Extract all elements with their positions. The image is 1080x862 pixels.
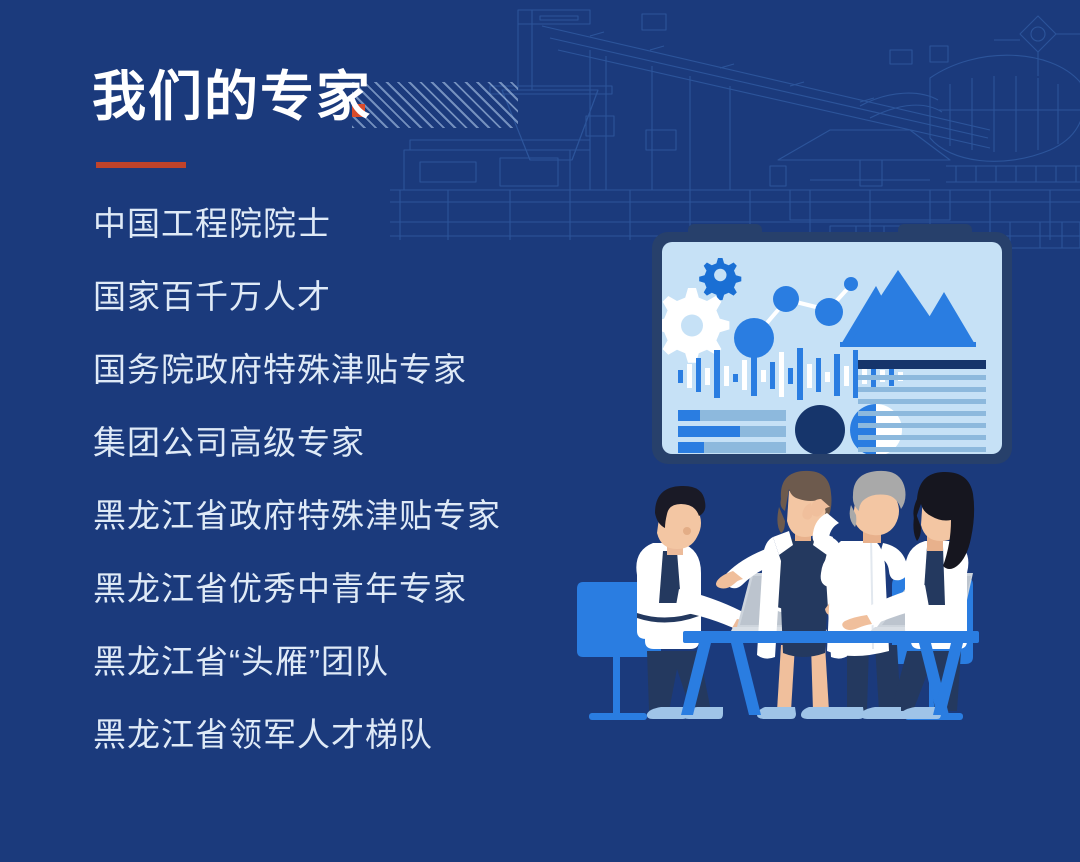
list-item: 中国工程院院士	[93, 207, 563, 240]
panel-screen	[662, 242, 1002, 454]
donut-circle-navy	[795, 405, 845, 454]
list-item: 黑龙江省领军人才梯队	[93, 718, 563, 751]
diagonal-hatch-decoration	[352, 82, 518, 128]
orange-underline-rule	[96, 162, 186, 168]
progress-bars	[678, 410, 786, 453]
gear-icon-blue	[699, 258, 741, 300]
waveform-bars	[678, 348, 903, 400]
standing-woman-center-left	[716, 471, 849, 719]
list-item: 国家百千万人才	[93, 280, 563, 313]
page-title: 我们的专家	[92, 70, 372, 124]
list-item: 集团公司高级专家	[93, 426, 563, 459]
list-item: 黑龙江省政府特殊津贴专家	[93, 499, 563, 532]
poster-canvas: 我们的专家 中国工程院院士 国家百千万人才 国务院政府特殊津贴专家 集团公司高级…	[0, 0, 1080, 862]
list-item: 黑龙江省优秀中青年专家	[93, 572, 563, 605]
list-item: 国务院政府特殊津贴专家	[93, 353, 563, 386]
team-of-experts-meeting	[575, 455, 1080, 745]
mountain-area-chart	[840, 270, 976, 347]
analytics-dashboard-panel	[652, 232, 1012, 464]
list-item: 黑龙江省“头雁”团队	[93, 645, 563, 678]
network-nodes-graph	[734, 277, 858, 358]
expert-credential-list: 中国工程院院士 国家百千万人才 国务院政府特殊津贴专家 集团公司高级专家 黑龙江…	[93, 207, 563, 791]
